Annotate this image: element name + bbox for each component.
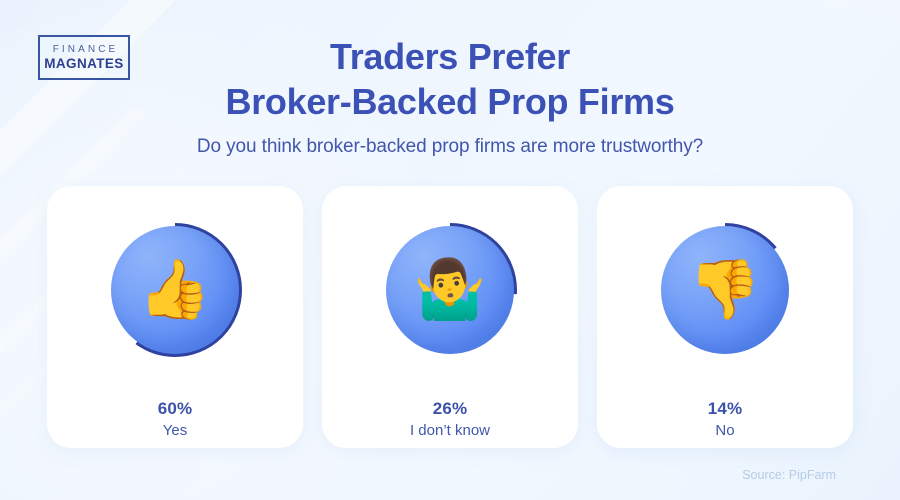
donut-center-ball: 👎 xyxy=(661,226,789,354)
percent-label: 26% xyxy=(433,399,468,419)
infographic-canvas: FINANCE MAGNATES Traders Prefer Broker-B… xyxy=(0,0,900,500)
answer-label: I don’t know xyxy=(410,422,490,439)
donut-chart-i-dont-know: 🤷‍♂️ xyxy=(383,223,517,357)
percent-label: 14% xyxy=(708,399,743,419)
answer-label: Yes xyxy=(163,422,187,439)
thumbs-down-emoji: 👎 xyxy=(689,261,761,319)
percent-label: 60% xyxy=(158,399,193,419)
thumbs-up-emoji: 👍 xyxy=(139,261,211,319)
title-line-1: Traders Prefer xyxy=(330,36,570,77)
result-cards: 👍 60% Yes 🤷‍♂️ 26% I don’t know xyxy=(47,186,853,448)
source-attribution: Source: PipFarm xyxy=(742,468,836,482)
answer-label: No xyxy=(715,422,734,439)
page-title: Traders Prefer Broker-Backed Prop Firms xyxy=(0,34,900,124)
result-card: 👎 14% No xyxy=(597,186,853,448)
donut-chart-yes: 👍 xyxy=(108,223,242,357)
donut-center-ball: 👍 xyxy=(111,226,239,354)
donut-chart-no: 👎 xyxy=(658,223,792,357)
shrug-emoji: 🤷‍♂️ xyxy=(414,261,486,319)
result-card: 🤷‍♂️ 26% I don’t know xyxy=(322,186,578,448)
page-subtitle: Do you think broker-backed prop firms ar… xyxy=(0,136,900,158)
title-line-2: Broker-Backed Prop Firms xyxy=(0,79,900,124)
result-card: 👍 60% Yes xyxy=(47,186,303,448)
donut-center-ball: 🤷‍♂️ xyxy=(386,226,514,354)
